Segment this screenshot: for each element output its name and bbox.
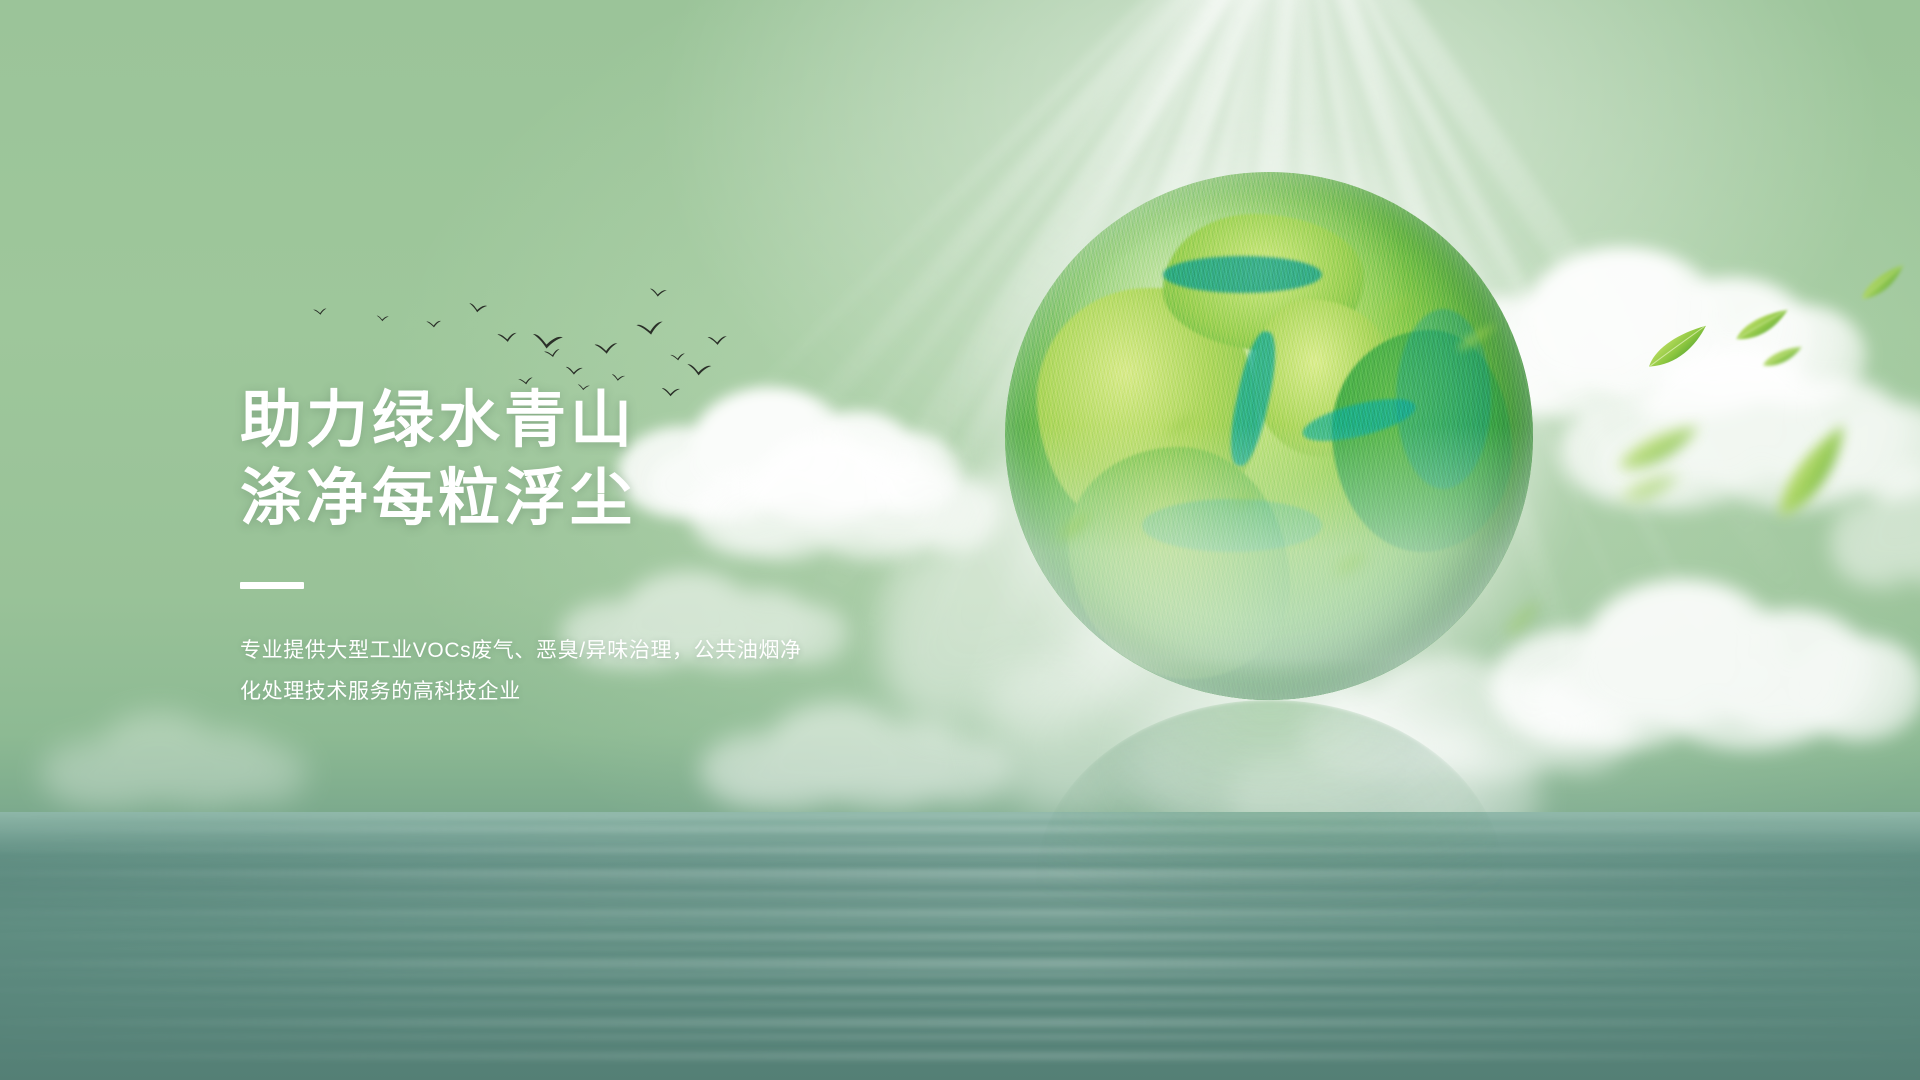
- subcopy-line-1: 专业提供大型工业VOCs废气、恶臭/异味治理，公共油烟净: [240, 631, 890, 672]
- bird-icon: [670, 348, 686, 366]
- leaf-icon: [1498, 610, 1550, 635]
- water-ripple: [0, 1002, 1920, 1007]
- headline-divider: [240, 582, 304, 589]
- water-ripple: [0, 814, 1920, 819]
- leaf-icon: [1228, 492, 1262, 511]
- water-ripple: [0, 986, 1920, 994]
- leaf-icon: [1642, 336, 1716, 367]
- bird-icon: [707, 333, 728, 351]
- calm-water-surface: [0, 812, 1920, 1080]
- water-ripple: [0, 1034, 1920, 1040]
- water-ripple: [0, 946, 1920, 951]
- water-ripple: [0, 890, 1920, 898]
- subcopy-block: 专业提供大型工业VOCs废气、恶臭/异味治理，公共油烟净 化处理技术服务的高科技…: [240, 631, 890, 713]
- leaf-icon: [1612, 434, 1708, 473]
- water-ripple: [0, 1018, 1920, 1027]
- bird-icon: [313, 303, 327, 321]
- headline-line-1: 助力绿水青山: [240, 382, 1000, 460]
- leaf-icon: [1758, 452, 1874, 501]
- bird-icon: [497, 330, 518, 348]
- leaf-icon: [1730, 316, 1796, 343]
- leaf-icon: [1052, 518, 1100, 541]
- water-ripple: [0, 846, 1920, 855]
- leaf-icon: [1856, 274, 1912, 299]
- bird-icon: [686, 363, 712, 382]
- bird-icon: [544, 345, 561, 363]
- bird-icon: [468, 300, 488, 318]
- headline-line-2: 涤净每粒浮尘: [240, 460, 1000, 538]
- water-ripple: [0, 972, 1920, 978]
- water-ripple: [0, 932, 1920, 941]
- water-ripple: [0, 958, 1920, 969]
- water-ripple: [0, 868, 1920, 879]
- leaf-icon: [1618, 478, 1684, 507]
- water-ripple: [0, 1052, 1920, 1060]
- water-ripple: [0, 880, 1920, 886]
- leaf-icon: [1380, 300, 1420, 319]
- water-ripple: [0, 900, 1920, 905]
- leaf-icon: [1452, 330, 1504, 353]
- water-ripple: [0, 826, 1920, 833]
- bird-icon: [636, 321, 665, 341]
- leaf-icon: [1330, 556, 1374, 577]
- leaf-icon: [1160, 418, 1200, 439]
- water-ripple: [0, 838, 1920, 842]
- leaf-icon: [1760, 350, 1806, 371]
- bird-icon: [594, 342, 619, 360]
- bird-icon: [649, 285, 667, 303]
- subcopy-line-2: 化处理技术服务的高科技企业: [240, 672, 890, 713]
- flying-birds-flock: [300, 240, 720, 390]
- water-ripple: [0, 908, 1920, 918]
- green-grass-earth-globe: [1005, 172, 1533, 700]
- water-ripple: [0, 920, 1920, 926]
- bird-icon: [426, 315, 442, 333]
- bird-icon: [376, 309, 389, 327]
- hero-copy-block: 助力绿水青山 涤净每粒浮尘 专业提供大型工业VOCs废气、恶臭/异味治理，公共油…: [240, 382, 1000, 713]
- hero-banner: 助力绿水青山 涤净每粒浮尘 专业提供大型工业VOCs废气、恶臭/异味治理，公共油…: [0, 0, 1920, 1080]
- water-ripple: [0, 858, 1920, 863]
